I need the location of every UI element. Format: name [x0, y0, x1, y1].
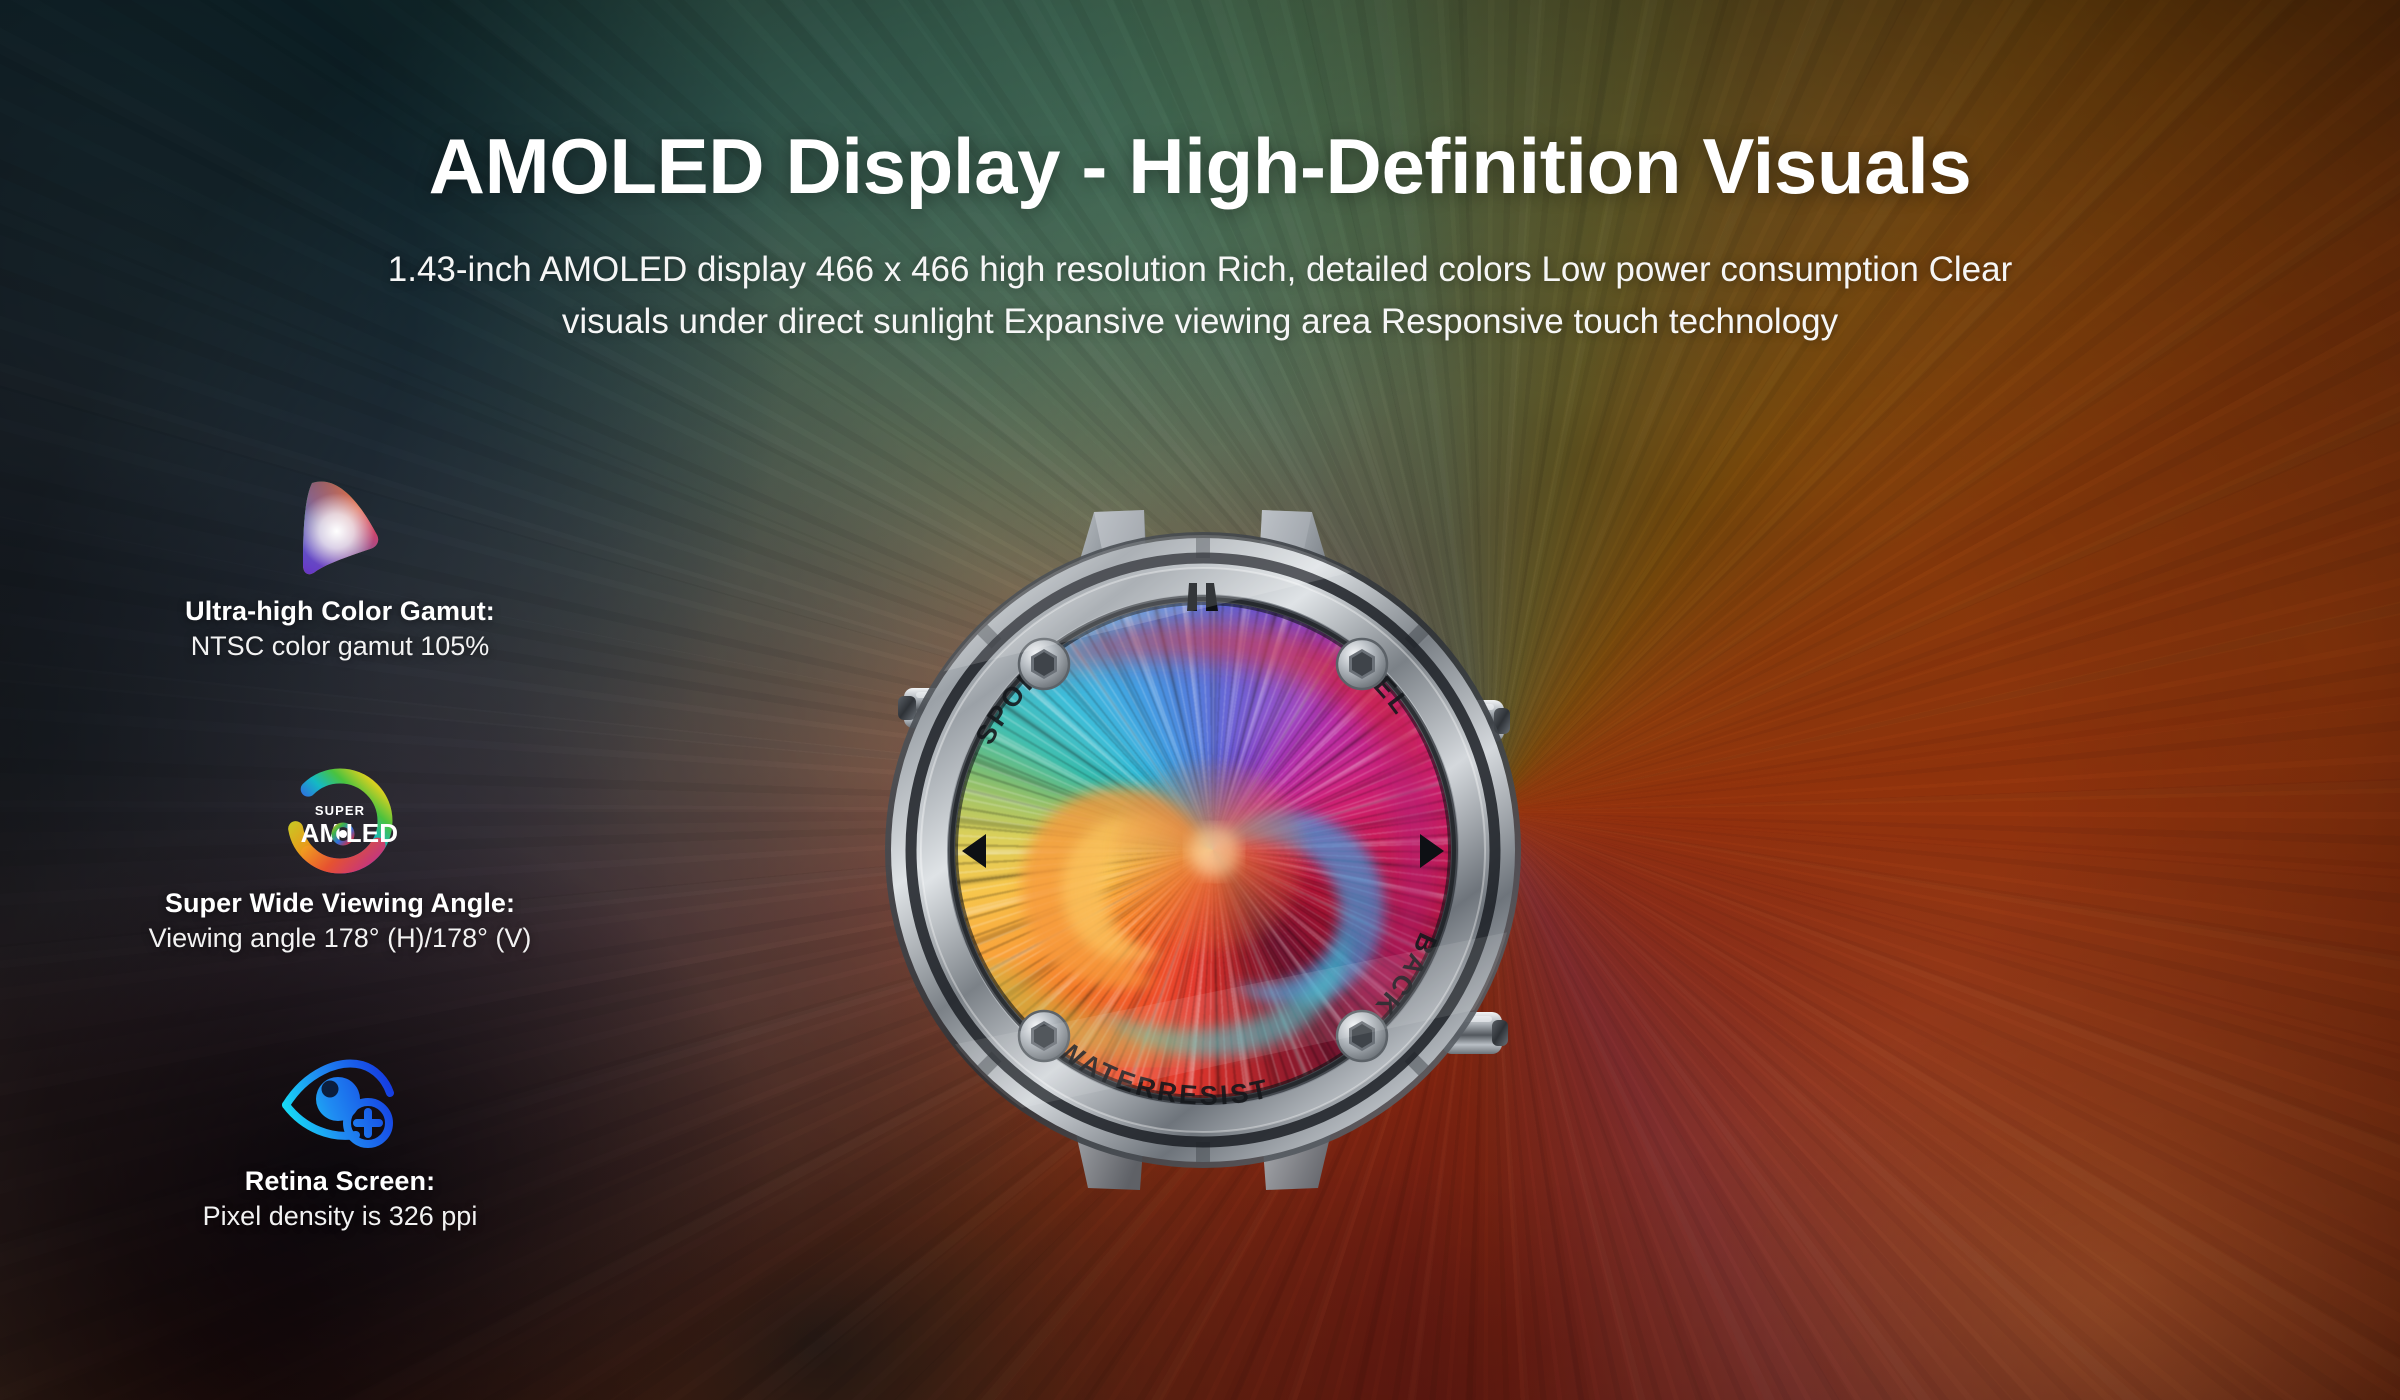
smartwatch-product-image: SPORT SEL BACK WATERRESIST [858, 452, 1548, 1242]
feature-item-color-gamut: Ultra-high Color Gamut: NTSC color gamut… [60, 470, 620, 662]
feature-value: Viewing angle 178° (H)/178° (V) [60, 923, 620, 954]
feature-item-viewing-angle: SUPER AM LED Super Wide Viewing Angle: V… [60, 762, 620, 954]
super-amoled-led-text: LED [346, 818, 399, 848]
eye-pupil-highlight [322, 1081, 339, 1098]
feature-value: NTSC color gamut 105% [60, 631, 620, 662]
color-gamut-triangle-icon [60, 470, 620, 588]
product-banner: AMOLED Display - High-Definition Visuals… [0, 0, 2400, 1400]
feature-item-retina: Retina Screen: Pixel density is 326 ppi [60, 1040, 620, 1232]
page-title: AMOLED Display - High-Definition Visuals [0, 126, 2400, 208]
super-amoled-logo-icon: SUPER AM LED [60, 762, 620, 880]
super-amoled-super-text: SUPER [315, 803, 365, 818]
feature-label: Retina Screen: [60, 1166, 620, 1197]
eye-zoom-icon [60, 1040, 620, 1158]
feature-label: Super Wide Viewing Angle: [60, 888, 620, 919]
feature-value: Pixel density is 326 ppi [60, 1201, 620, 1232]
page-subtitle: 1.43-inch AMOLED display 466 x 466 high … [380, 244, 2020, 348]
feature-label: Ultra-high Color Gamut: [60, 596, 620, 627]
watch-screw-top-right [1337, 639, 1387, 689]
feature-list: Ultra-high Color Gamut: NTSC color gamut… [60, 470, 620, 1328]
